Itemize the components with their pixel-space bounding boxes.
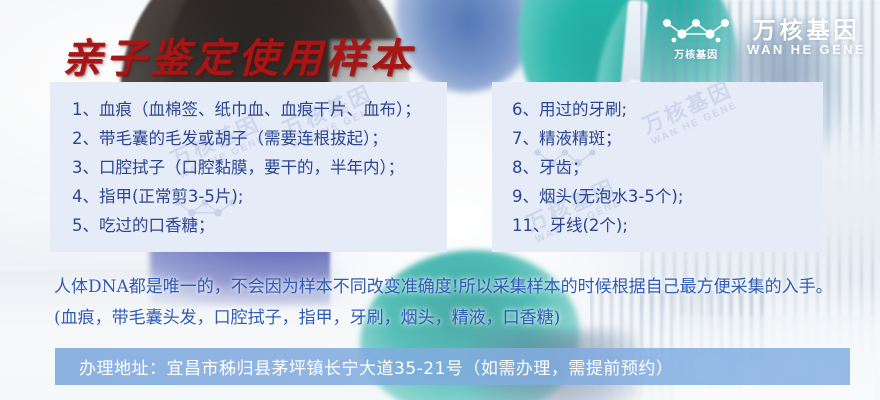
page-title: 亲子鉴定使用样本 (62, 26, 414, 84)
promo-poster: 万核基因 万核基因 WAN HE GENE 亲子鉴定使用样本 万核基因 WAN … (0, 0, 880, 400)
description-text: 人体DNA都是唯一的，不会因为样本不同改变准确度!所以采集样本的时候根据自己最方… (54, 272, 844, 334)
list-item: 8、牙齿； (512, 153, 823, 182)
list-item: 1、血痕（血棉签、纸巾血、血痕干片、血布）； (72, 95, 447, 124)
brand-name-cn: 万核基因 (753, 17, 861, 43)
list-item: 4、指甲(正常剪3-5片); (72, 182, 447, 211)
list-item: 3、口腔拭子（口腔黏膜，要干的，半年内）； (72, 153, 447, 182)
list-item: 2、带毛囊的毛发或胡子（需要连根拔起）； (72, 124, 447, 153)
list-item: 7、精液精斑； (512, 124, 823, 153)
list-item: 5、吃过的口香糖； (72, 211, 447, 240)
brand-logo: 万核基因 万核基因 WAN HE GENE (659, 14, 866, 61)
sample-list-right: 6、用过的牙刷; 7、精液精斑； 8、牙齿； 9、烟头(无泡水3-5个); 11… (492, 82, 823, 240)
address-bar: 办理地址：宜昌市秭归县茅坪镇长宁大道35-21号（如需办理，需提前预约） (55, 348, 850, 385)
brand-wordmark: 万核基因 WAN HE GENE (747, 17, 866, 58)
brand-name-en: WAN HE GENE (747, 43, 866, 58)
sample-list-panel-right: 万核基因 WAN HE GENE 万核基因 WAN HE GENE 6、用过的牙… (492, 82, 823, 252)
list-item: 6、用过的牙刷; (512, 95, 823, 124)
address-bar-text: 办理地址：宜昌市秭归县茅坪镇长宁大道35-21号（如需办理，需提前预约） (55, 354, 673, 379)
brand-mark: 万核基因 (659, 14, 733, 61)
sample-list-panel-left: 万核基因 WAN HE GENE 万核基因 WAN HE GENE 1、血痕（血… (50, 82, 447, 252)
sample-list-left: 1、血痕（血棉签、纸巾血、血痕干片、血布）； 2、带毛囊的毛发或胡子（需要连根拔… (50, 82, 447, 240)
list-item: 11、牙线(2个); (512, 211, 823, 240)
list-item: 9、烟头(无泡水3-5个); (512, 182, 823, 211)
brand-mark-label: 万核基因 (674, 51, 718, 61)
dna-molecule-icon (659, 14, 733, 48)
